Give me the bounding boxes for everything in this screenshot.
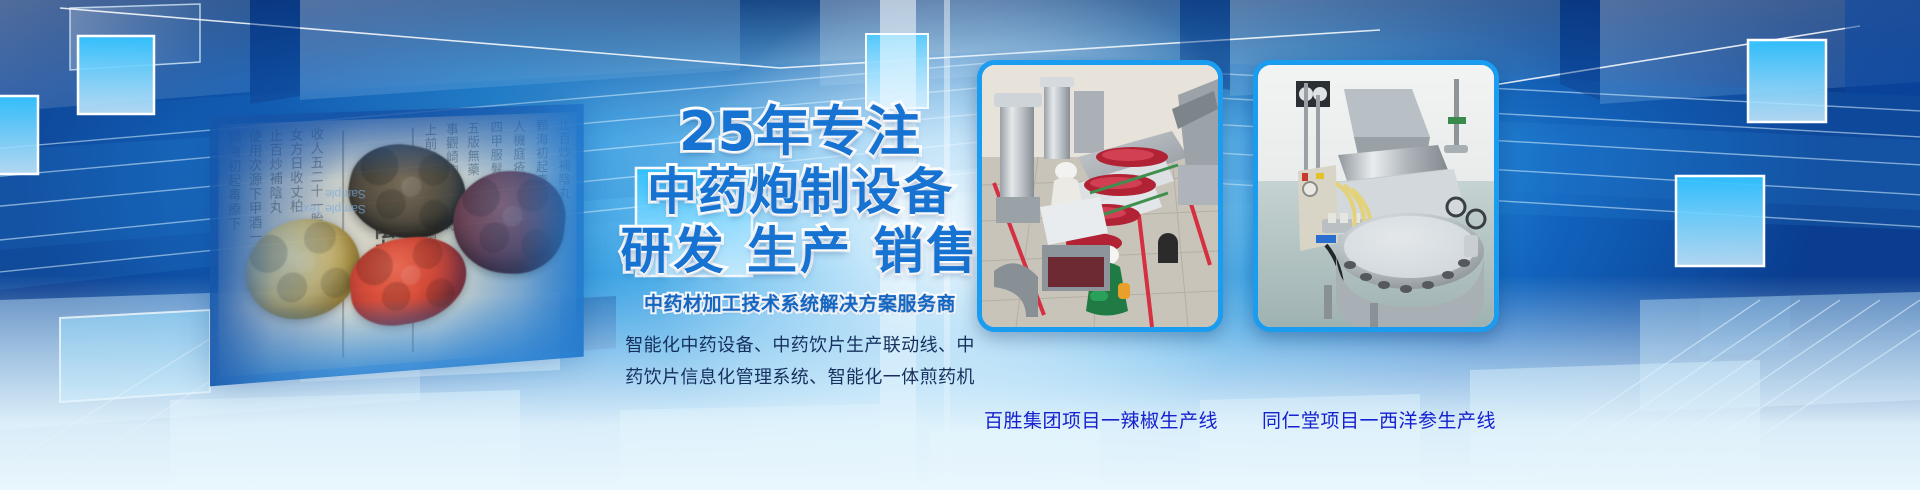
headline-line-1: 25年专注 <box>600 104 1000 159</box>
sample-watermark-line: Sample <box>300 186 366 201</box>
herb-image: 顆海初起毒療下 便用次源下甲酒一 止百炒補陰丸 女方日收丈柏 收人五二十一胎子 … <box>218 112 576 378</box>
promo-banner: 顆海初起毒療下 便用次源下甲酒一 止百炒補陰丸 女方日收丈柏 收人五二十一胎子 … <box>0 0 1920 490</box>
chili-production-line-photo[interactable] <box>977 60 1223 332</box>
headline-block: 25年专注 中药炮制设备 研发 生产 销售 中药材加工技术系统解决方案服务商 智… <box>600 104 1000 394</box>
headline-subtitle: 中药材加工技术系统解决方案服务商 <box>600 289 1000 316</box>
headline-line-3: 研发 生产 销售 <box>600 226 1000 277</box>
headline-body-line-1: 智能化中药设备、中药饮片生产联动线、中 <box>600 330 1000 362</box>
sample-watermark-line: Sample Text <box>300 201 366 216</box>
photo-content <box>982 65 1218 327</box>
caption-chili-line: 百胜集团项目一辣椒生产线 <box>984 406 1218 433</box>
herb-image-blend-overlay <box>210 104 584 386</box>
sample-watermark: Sample Text Sample <box>300 186 366 216</box>
american-ginseng-production-line-photo[interactable] <box>1253 60 1499 332</box>
photo-content <box>1258 65 1494 327</box>
headline-body-line-2: 药饮片信息化管理系统、智能化一体煎药机 <box>600 362 1000 394</box>
caption-ginseng-line: 同仁堂项目一西洋参生产线 <box>1262 406 1496 433</box>
headline-line-2: 中药炮制设备 <box>600 167 1000 218</box>
